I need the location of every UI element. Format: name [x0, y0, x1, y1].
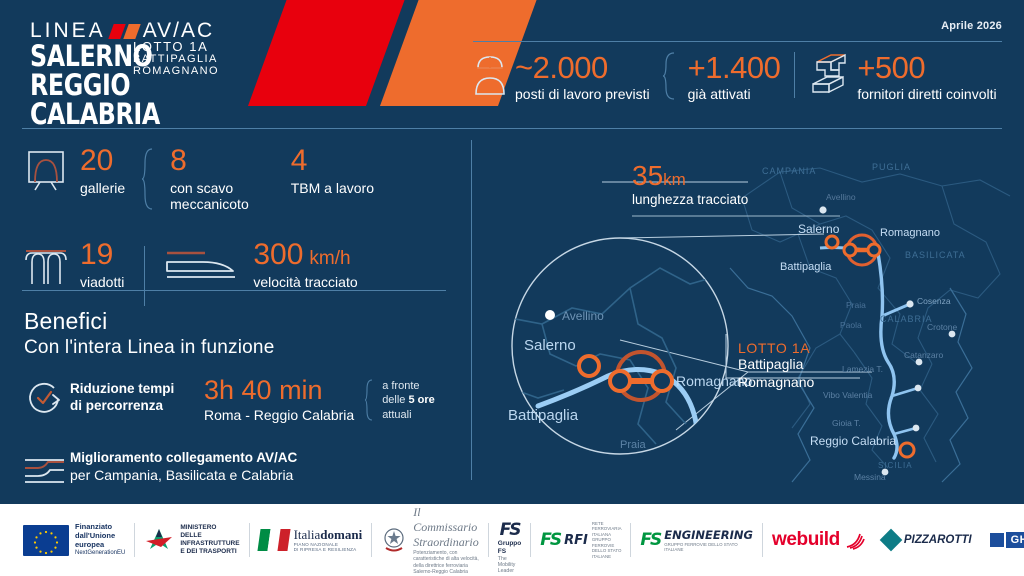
benefit-travel-time: Riduzione tempi di percorrenza 3h 40 min…: [24, 377, 464, 426]
logo-ministero-infrastrutture: MINISTERO DELLE INFRASTRUTTURE E DEI TRA…: [135, 520, 248, 560]
stat-row-tunnels: 20 gallerie 8 con scavo meccanicoto 4 TB…: [22, 146, 462, 212]
rfi-sub1: RETE FERROVIARIA ITALIANA: [592, 521, 622, 538]
region-label-basilicata: BASILICATA: [905, 250, 966, 260]
map-lotto-callout: LOTTO 1A Battipaglia Romagnano: [738, 340, 814, 391]
map-panel: Avellino Salerno Romagnano Battipaglia P…: [480, 138, 1024, 488]
map-callout-title: LOTTO 1A: [738, 340, 814, 356]
steel-beam-icon: [809, 52, 849, 96]
inset-label-praia: Praia: [620, 439, 647, 451]
webuild-wordmark: webuild: [772, 529, 840, 551]
infographic-root: LINEA AV/AC SALERNO REGGIO CALABRIA LOTT…: [0, 0, 1024, 576]
rfi-wordmark: RFI: [564, 533, 588, 548]
label-catanzaro: Catanzaro: [904, 350, 943, 360]
main-vertical-divider: [471, 140, 472, 480]
commissario-sub2: della direttrice ferroviaria Salerno-Reg…: [413, 563, 479, 576]
rfi-sub-block: RETE FERROVIARIA ITALIANA GRUPPO FERROVI…: [592, 521, 622, 560]
mit-line2: DELLE INFRASTRUTTURE: [180, 532, 239, 548]
main-horizontal-divider: [22, 128, 1002, 129]
header-divider: [473, 41, 1002, 42]
inset-node-salerno: [579, 356, 599, 376]
stat-mechanical-caption-1: con scavo: [170, 180, 249, 196]
label-lamezia: Lamezia T.: [842, 364, 883, 374]
brand-title-line2: REGGIO CALABRIA: [30, 71, 235, 129]
left-statistics: 20 gallerie 8 con scavo meccanicoto 4 TB…: [22, 146, 462, 306]
stat-suppliers-caption: fornitori diretti coinvolti: [857, 86, 996, 102]
label-paola: Paola: [840, 320, 862, 330]
stat-tunnels-number: 20: [80, 146, 125, 176]
railway-main-line: [878, 253, 897, 458]
label-avellino: Avellino: [826, 192, 856, 202]
brand-lotto-to: ROMAGNANO: [133, 66, 219, 78]
stat-tbm-caption: TBM a lavoro: [291, 180, 374, 196]
stat-jobs-number: ~2.000: [515, 52, 650, 83]
benefit-icon-wrap-2: [24, 450, 70, 491]
mit-line1: MINISTERO: [180, 524, 239, 532]
stat-viaducts-caption: viadotti: [80, 274, 124, 290]
italiadomani-wordmark: Italiadomani: [294, 528, 363, 542]
stat-viaducts-number: 19: [80, 240, 124, 270]
rail-junction-icon: [24, 450, 66, 486]
logo-ghella: GHELLA: [981, 520, 1024, 560]
label-praia: Praia: [846, 300, 866, 310]
stat-jobs-caption: posti di lavoro previsti: [515, 86, 650, 102]
map-callout-line2: Romagnano: [738, 374, 814, 392]
header-stat-separator: [794, 52, 795, 98]
stat-row-viaducts: 19 viadotti 300 km/h velocità tracciato: [22, 240, 462, 306]
italiadomani-sub2: DI RIPRESA E RESILIENZA: [294, 547, 363, 552]
benefit-connection-sub: per Campania, Basilicata e Calabria: [70, 467, 297, 483]
tunnel-icon: [22, 146, 70, 194]
eu-line3: NextGenerationEU: [75, 550, 125, 557]
station-node-salerno: [826, 236, 838, 248]
benefit-connection: Miglioramento collegamento AV/AC per Cam…: [24, 448, 464, 491]
benefit-note-line2: delle 5 ore: [382, 393, 435, 407]
label-cosenza: Cosenza: [917, 296, 951, 306]
viaduct-icon: [22, 240, 70, 288]
benefit-travel-title: Riduzione tempi di percorrenza: [70, 381, 198, 415]
stat-jobs-activated: +1.400 già attivati: [688, 52, 781, 102]
map-length-block: 35km lunghezza tracciato: [632, 162, 748, 207]
logo-italia-domani: Italiadomani PIANO NAZIONALE DI RIPRESA …: [250, 520, 372, 560]
logo-gruppo-fs: FS Gruppo FS The Mobility Leader: [489, 520, 530, 560]
railway-branch-gioia: [894, 428, 916, 434]
hardhat-worker-icon: [473, 52, 507, 96]
brand-lotto-label: LOTTO 1A: [133, 40, 219, 54]
header-stats: ~2.000 posti di lavoro previsti +1.400 g…: [473, 52, 997, 102]
brace-icon-tunnels: [141, 148, 154, 210]
region-label-calabria: CALABRIA: [880, 314, 933, 324]
eng-wordmark: ENGINEERING: [664, 528, 753, 542]
eu-text-block: Finanziato dall'Unione europea NextGener…: [75, 523, 125, 557]
benefit-note-line1: a fronte: [382, 379, 435, 393]
brace-icon-benefit: [364, 379, 374, 421]
benefit-travel-value-block: 3h 40 min Roma - Reggio Calabria: [204, 377, 354, 423]
region-label-puglia: PUGLIA: [872, 162, 911, 172]
stat-speed-number: 300: [253, 240, 303, 270]
fs-mark-icon: FS: [500, 520, 520, 540]
logo-pizzarotti: PIZZAROTTI: [874, 520, 981, 560]
inset-node-battipaglia: [610, 371, 630, 391]
header-date: Aprile 2026: [941, 20, 1002, 32]
brand-lotto-block: LOTTO 1A BATTIPAGLIA ROMAGNANO: [133, 40, 219, 78]
eu-flag-icon: [23, 525, 69, 556]
brace-icon: [662, 52, 676, 100]
map-length-unit: km: [663, 170, 686, 189]
benefit-travel-value: 3h 40 min: [204, 377, 354, 404]
logo-commissario-straordinario: Il Commissario Straordinario Potenziamen…: [372, 520, 488, 560]
benefit-travel-title-1: Riduzione tempi: [70, 381, 198, 398]
map-length-number: 35: [632, 160, 663, 191]
inset-label-avellino: Avellino: [562, 309, 604, 323]
logo-eu-next-generation: Finanziato dall'Unione europea NextGener…: [14, 520, 134, 560]
stat-suppliers: +500 fornitori diretti coinvolti: [809, 52, 996, 102]
pizzarotti-diamond-icon: [880, 529, 903, 552]
rfi-row: FS RFI: [540, 530, 588, 550]
logo-webuild: webuild: [763, 520, 874, 560]
stat-mechanical-excavation: 8 con scavo meccanicoto: [170, 146, 249, 212]
map-region-outlines: [742, 168, 1010, 468]
stat-speed-unit: km/h: [309, 248, 350, 270]
stat-mechanical-caption-2: meccanicoto: [170, 196, 249, 212]
commissario-text: Il Commissario Straordinario Potenziamen…: [413, 505, 479, 575]
logo-fs-engineering: FS ENGINEERING GRUPPO FERROVIE DELLO STA…: [631, 520, 762, 560]
label-salerno: Salerno: [798, 222, 840, 236]
eng-fs-mark-icon: FS: [640, 530, 660, 550]
mit-text-block: MINISTERO DELLE INFRASTRUTTURE E DEI TRA…: [180, 524, 239, 555]
webuild-swoosh-icon: [843, 530, 865, 550]
inset-map-content: [510, 268, 718, 468]
map-callout-line1: Battipaglia: [738, 356, 814, 374]
benefits-title: Benefici: [24, 308, 464, 335]
commissario-title: Il Commissario Straordinario: [413, 505, 479, 550]
inset-node-romagnano: [652, 371, 672, 391]
inset-dot-avellino: [545, 310, 555, 320]
station-node-battipaglia: [844, 244, 856, 256]
mit-mark-icon: [144, 527, 174, 553]
italy-south-map: Avellino Salerno Romagnano Battipaglia P…: [480, 138, 1024, 488]
stat-activated-caption: già attivati: [688, 86, 781, 102]
inset-label-battipaglia: Battipaglia: [508, 407, 579, 424]
railway-branch-lamezia: [892, 388, 918, 396]
republic-emblem-icon: [381, 526, 407, 554]
pizzarotti-wordmark: PIZZAROTTI: [904, 534, 972, 546]
ghella-wordmark: GHELLA: [1006, 532, 1024, 548]
stat-viaducts: 19 viadotti: [22, 240, 124, 290]
rfi-fs-mark-icon: FS: [540, 530, 560, 550]
station-node-romagnano: [868, 244, 880, 256]
footer-logos-bar: Finanziato dall'Unione europea NextGener…: [0, 504, 1024, 576]
footer-logo-strip: Finanziato dall'Unione europea NextGener…: [14, 518, 1014, 562]
stat-tunnels: 20 gallerie: [22, 146, 125, 196]
commissario-sub1: Potenziamento, con caratteristiche di al…: [413, 550, 479, 563]
stat-tbm-number: 4: [291, 146, 374, 176]
main-map-labels: CAMPANIA PUGLIA BASILICATA CALABRIA SICI…: [762, 162, 966, 482]
region-label-sicilia: SICILIA: [878, 461, 913, 470]
label-battipaglia: Battipaglia: [780, 261, 832, 273]
label-vibo: Vibo Valentia: [823, 390, 873, 400]
inset-label-salerno: Salerno: [524, 337, 576, 354]
double-slash-icon: [111, 24, 138, 39]
benefit-connection-text: Miglioramento collegamento AV/AC per Cam…: [70, 450, 297, 483]
label-romagnano: Romagnano: [880, 227, 940, 239]
stat-mechanical-number: 8: [170, 146, 249, 176]
benefit-travel-route: Roma - Reggio Calabria: [204, 407, 354, 423]
highspeed-train-icon: [165, 240, 239, 284]
benefit-note-line3: attuali: [382, 408, 435, 422]
italiadomani-text: Italiadomani PIANO NAZIONALE DI RIPRESA …: [294, 528, 363, 552]
viaduct-speed-separator: [144, 246, 145, 306]
stat-jobs-planned: ~2.000 posti di lavoro previsti: [473, 52, 650, 102]
stat-speed-caption: velocità tracciato: [253, 274, 357, 290]
benefits-subtitle: Con l'intera Linea in funzione: [24, 337, 464, 359]
stat-suppliers-number: +500: [857, 52, 996, 83]
region-label-campania: CAMPANIA: [762, 166, 816, 176]
stat-speed: 300 km/h velocità tracciato: [165, 240, 357, 290]
label-crotone: Crotone: [927, 322, 958, 332]
logo-rfi: FS RFI RETE FERROVIARIA ITALIANA GRUPPO …: [531, 520, 630, 560]
benefit-travel-title-2: di percorrenza: [70, 398, 198, 415]
eu-line2: dall'Unione europea: [75, 532, 125, 550]
eng-sub: GRUPPO FERROVIE DELLO STATO ITALIANE: [664, 542, 753, 553]
gruppofs-title: Gruppo FS: [498, 540, 521, 556]
label-messina: Messina: [854, 472, 886, 482]
eng-text-block: ENGINEERING GRUPPO FERROVIE DELLO STATO …: [664, 528, 753, 553]
stat-activated-number: +1.400: [688, 52, 781, 83]
gruppofs-sub: The Mobility Leader: [498, 556, 521, 575]
label-reggio-calabria: Reggio Calabria: [810, 434, 896, 448]
benefit-travel-note: a fronte delle 5 ore attuali: [382, 379, 435, 422]
label-gioia: Gioia T.: [832, 418, 861, 428]
italian-flag-icon: [257, 529, 290, 551]
ghella-square-icon: [990, 533, 1004, 547]
mit-line3: E DEI TRASPORTI: [180, 548, 239, 556]
station-node-reggio: [900, 443, 914, 457]
map-length-caption: lunghezza tracciato: [632, 192, 748, 207]
eu-stars-icon: [23, 525, 69, 556]
benefit-icon-wrap: [24, 379, 70, 426]
benefits-section: Benefici Con l'intera Linea in funzione …: [24, 308, 464, 491]
stat-tunnels-caption: gallerie: [80, 180, 125, 196]
rfi-sub2: GRUPPO FERROVIE DELLO STATO ITALIANE: [592, 537, 622, 559]
clock-arrow-icon: [24, 379, 66, 421]
benefit-connection-title: Miglioramento collegamento AV/AC: [70, 450, 297, 465]
stat-tbm: 4 TBM a lavoro: [291, 146, 374, 196]
